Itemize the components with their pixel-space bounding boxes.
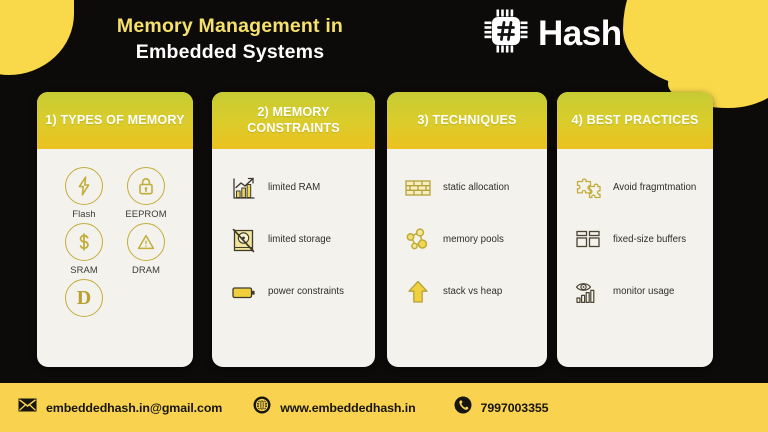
puzzle-pieces-icon [573, 173, 603, 203]
letter-d-icon: D [65, 279, 103, 317]
list-item-label: Avoid fragmtmation [613, 181, 696, 194]
brick-wall-icon [403, 173, 433, 203]
memory-types-grid: Flash EEPROM [37, 159, 193, 324]
card-header: 1) TYPES OF MEMORY [37, 92, 193, 149]
constraints-list: limited RAM limited stor [212, 159, 375, 307]
footer-contact-bar: embeddedhash.in@gmail.com www.embeddedha [0, 383, 768, 432]
techniques-list: static allocation [387, 159, 547, 307]
page-title-line1: Memory Management in [40, 14, 420, 40]
page-title-line2: Embedded Systems [40, 40, 420, 66]
list-item-label: stack vs heap [443, 285, 502, 298]
globe-icon [253, 396, 271, 419]
node-network-icon [403, 225, 433, 255]
list-item[interactable]: fixed-size buffers [557, 225, 713, 255]
list-item[interactable]: limited storage [212, 225, 375, 255]
list-item-label: monitor usage [613, 285, 674, 298]
brand-logo: Hash [483, 8, 622, 59]
infographic-canvas: Memory Management in Embedded Systems [0, 0, 768, 432]
envelope-icon [18, 398, 37, 417]
card-body: Avoid fragmtmation fixed-size buffers [557, 149, 713, 307]
card-header: 3) TECHNIQUES [387, 92, 547, 149]
footer-website-text: www.embeddedhash.in [280, 401, 415, 415]
list-item-label: static allocation [443, 181, 509, 194]
layout-boxes-icon [573, 225, 603, 255]
list-item-label: fixed-size buffers [613, 233, 686, 246]
footer-phone-text: 7997003355 [481, 401, 549, 415]
up-arrow-icon [403, 277, 433, 307]
phone-icon [454, 396, 472, 419]
cards-row: 1) TYPES OF MEMORY Flash [0, 92, 768, 369]
card-heading: 1) TYPES OF MEMORY [45, 113, 184, 129]
card-memory-constraints[interactable]: 2) MEMORY CONSTRAINTS [212, 92, 375, 367]
letter-d-glyph: D [77, 288, 91, 308]
footer-email[interactable]: embeddedhash.in@gmail.com [18, 398, 222, 417]
best-practices-list: Avoid fragmtmation fixed-size buffers [557, 159, 713, 307]
card-best-practices[interactable]: 4) BEST PRACTICES Avoid fragmtmation [557, 92, 713, 367]
lock-icon [127, 167, 165, 205]
list-item-label: EEPROM [115, 208, 177, 219]
list-item[interactable]: EEPROM [115, 167, 177, 219]
list-item-label: limited storage [268, 233, 331, 246]
list-item-label: power constraints [268, 285, 344, 298]
lightning-bolt-icon [65, 167, 103, 205]
dollar-sign-icon [65, 223, 103, 261]
list-item[interactable]: limited RAM [212, 173, 375, 203]
microchip-hash-logo-icon [483, 8, 529, 59]
card-body: static allocation [387, 149, 547, 307]
list-item[interactable]: monitor usage [557, 277, 713, 307]
page-title: Memory Management in Embedded Systems [40, 14, 420, 65]
list-item-label: Flash [53, 208, 115, 219]
card-types-of-memory[interactable]: 1) TYPES OF MEMORY Flash [37, 92, 193, 367]
bar-chart-trend-icon [228, 173, 258, 203]
battery-icon [228, 277, 258, 307]
eye-chart-icon [573, 277, 603, 307]
card-heading: 4) BEST PRACTICES [571, 113, 698, 129]
card-header: 4) BEST PRACTICES [557, 92, 713, 149]
footer-website[interactable]: www.embeddedhash.in [253, 396, 415, 419]
footer-phone[interactable]: 7997003355 [454, 396, 549, 419]
list-item-label: DRAM [115, 264, 177, 275]
list-item-label: memory pools [443, 233, 504, 246]
hard-disk-disabled-icon [228, 225, 258, 255]
card-header: 2) MEMORY CONSTRAINTS [212, 92, 375, 149]
card-body: Flash EEPROM [37, 149, 193, 324]
list-item-label: SRAM [53, 264, 115, 275]
list-item[interactable]: SRAM [53, 223, 115, 275]
list-item[interactable]: static allocation [387, 173, 547, 203]
card-body: limited RAM limited stor [212, 149, 375, 307]
list-item[interactable]: D [53, 279, 115, 320]
card-heading: 2) MEMORY CONSTRAINTS [220, 105, 367, 136]
footer-email-text: embeddedhash.in@gmail.com [46, 401, 222, 415]
list-item-label: limited RAM [268, 181, 320, 194]
header: Memory Management in Embedded Systems [0, 0, 768, 88]
card-heading: 3) TECHNIQUES [417, 113, 516, 129]
warning-triangle-icon [127, 223, 165, 261]
card-techniques[interactable]: 3) TECHNIQUES [387, 92, 547, 367]
list-item[interactable]: memory pools [387, 225, 547, 255]
list-item[interactable]: stack vs heap [387, 277, 547, 307]
list-item[interactable]: DRAM [115, 223, 177, 275]
brand-name: Hash [538, 16, 622, 51]
list-item[interactable]: Flash [53, 167, 115, 219]
list-item[interactable]: power constraints [212, 277, 375, 307]
list-item[interactable]: Avoid fragmtmation [557, 173, 713, 203]
